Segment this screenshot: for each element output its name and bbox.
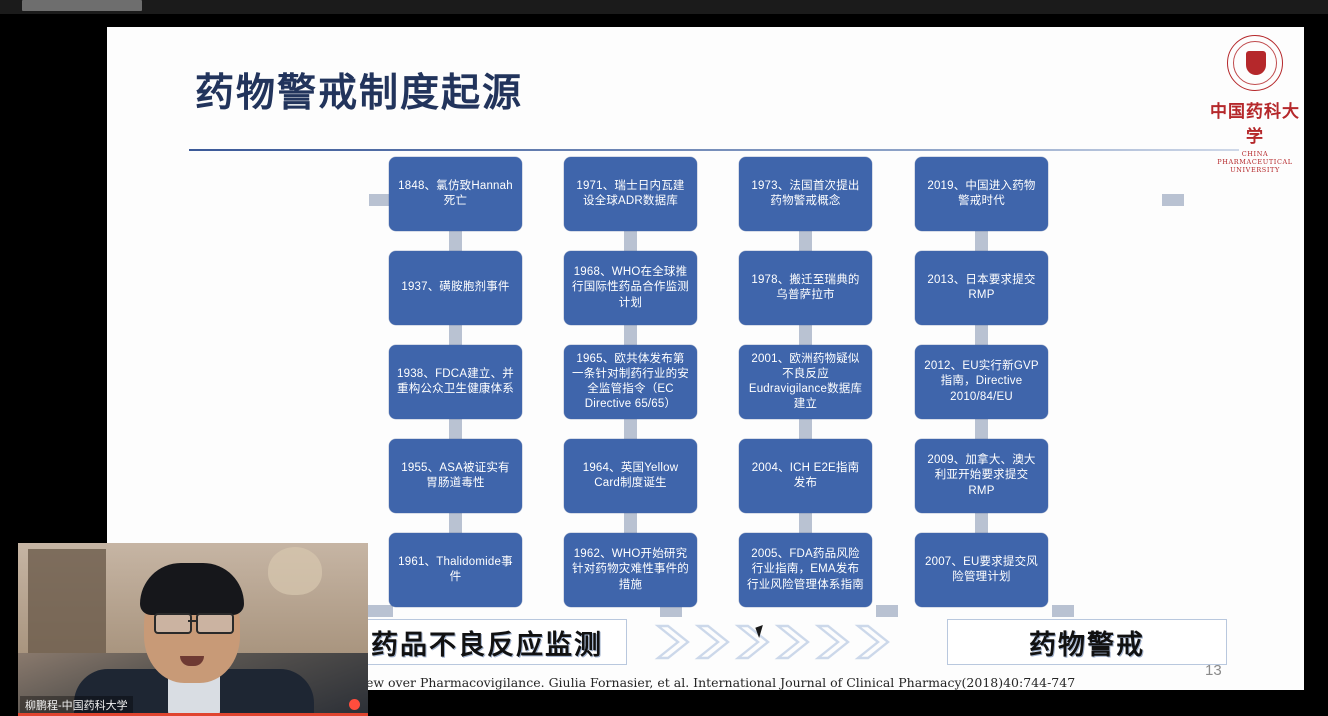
- video-person-hair: [140, 563, 244, 615]
- timeline-node[interactable]: 1973、法国首次提出药物警戒概念: [739, 157, 872, 231]
- timeline-column-1: 1848、氯仿致Hannah死亡 1937、磺胺胞剂事件 1938、FDCA建立…: [389, 157, 522, 607]
- label-box-adr-monitoring: 药品不良反应监测: [347, 619, 627, 665]
- video-background-lamp: [268, 547, 322, 595]
- connector-vertical: [624, 231, 637, 251]
- timeline-node[interactable]: 1938、FDCA建立、并重构公众卫生健康体系: [389, 345, 522, 419]
- chevron-right-icon: [772, 622, 812, 662]
- label-text: 药品不良反应监测: [371, 623, 603, 662]
- label-text: 药物警戒: [1029, 623, 1145, 662]
- connector-vertical: [449, 513, 462, 533]
- page-number: 13: [1205, 662, 1222, 679]
- timeline-node[interactable]: 1937、磺胺胞剂事件: [389, 251, 522, 325]
- connector-stub: [369, 194, 391, 206]
- chevron-right-icon: [732, 622, 772, 662]
- video-background-door: [28, 549, 106, 653]
- timeline-node[interactable]: 1848、氯仿致Hannah死亡: [389, 157, 522, 231]
- timeline-node[interactable]: 1964、英国Yellow Card制度诞生: [564, 439, 697, 513]
- connector-vertical: [975, 513, 988, 533]
- timeline-column-2: 1971、瑞士日内瓦建设全球ADR数据库 1968、WHO在全球推行国际性药品合…: [564, 157, 697, 607]
- timeline-node[interactable]: 1971、瑞士日内瓦建设全球ADR数据库: [564, 157, 697, 231]
- timeline-column-4: 2019、中国进入药物警戒时代 2013、日本要求提交RMP 2012、EU实行…: [915, 157, 1048, 607]
- citation-text: orical overview over Pharmacovigilance. …: [287, 675, 1287, 690]
- recording-dot-icon: [349, 699, 360, 710]
- participant-video-tile[interactable]: 柳鹏程-中国药科大学: [18, 543, 368, 716]
- timeline-node[interactable]: 2019、中国进入药物警戒时代: [915, 157, 1048, 231]
- connector-vertical: [624, 325, 637, 345]
- connector-stub: [1052, 605, 1074, 617]
- chevron-arrow-group: [652, 622, 932, 662]
- chevron-right-icon: [812, 622, 852, 662]
- timeline-node[interactable]: 1968、WHO在全球推行国际性药品合作监测计划: [564, 251, 697, 325]
- video-person-glasses: [154, 613, 192, 634]
- label-box-pharmacovigilance: 药物警戒: [947, 619, 1227, 665]
- bottom-summary-band: 药品不良反应监测 药物警戒: [267, 619, 1277, 665]
- connector-vertical: [449, 231, 462, 251]
- connector-stub: [1162, 194, 1184, 206]
- top-bar: [0, 0, 1328, 14]
- video-person-glasses-bridge: [188, 620, 198, 622]
- screen-share-window: 药物警戒制度起源 中国药科大学 CHINA PHARMACEUTICAL UNI…: [0, 0, 1328, 716]
- timeline-node[interactable]: 1978、搬迁至瑞典的乌普萨拉市: [739, 251, 872, 325]
- timeline-node[interactable]: 2013、日本要求提交RMP: [915, 251, 1048, 325]
- connector-vertical: [975, 419, 988, 439]
- chevron-right-icon: [692, 622, 732, 662]
- connector-vertical: [624, 513, 637, 533]
- timeline-node[interactable]: 2001、欧洲药物疑似不良反应Eudravigilance数据库建立: [739, 345, 872, 419]
- timeline-node[interactable]: 2005、FDA药品风险行业指南，EMA发布行业风险管理体系指南: [739, 533, 872, 607]
- timeline-node[interactable]: 1955、ASA被证实有胃肠道毒性: [389, 439, 522, 513]
- connector-vertical: [975, 325, 988, 345]
- timeline-node[interactable]: 2004、ICH E2E指南发布: [739, 439, 872, 513]
- timeline-node[interactable]: 1962、WHO开始研究针对药物灾难性事件的措施: [564, 533, 697, 607]
- timeline-node[interactable]: 2007、EU要求提交风险管理计划: [915, 533, 1048, 607]
- connector-vertical: [799, 231, 812, 251]
- connector-vertical: [449, 419, 462, 439]
- timeline-node[interactable]: 1965、欧共体发布第一条针对制药行业的安全监管指令（EC Directive …: [564, 345, 697, 419]
- connector-vertical: [624, 419, 637, 439]
- chevron-right-icon: [652, 622, 692, 662]
- participant-name-label: 柳鹏程-中国药科大学: [20, 696, 133, 714]
- chevron-right-icon: [852, 622, 892, 662]
- video-person-glasses: [196, 613, 234, 634]
- timeline-node[interactable]: 1961、Thalidomide事件: [389, 533, 522, 607]
- timeline-node[interactable]: 2012、EU实行新GVP指南，Directive 2010/84/EU: [915, 345, 1048, 419]
- connector-vertical: [799, 325, 812, 345]
- connector-vertical: [975, 231, 988, 251]
- connector-vertical: [799, 419, 812, 439]
- connector-vertical: [799, 513, 812, 533]
- timeline-column-3: 1973、法国首次提出药物警戒概念 1978、搬迁至瑞典的乌普萨拉市 2001、…: [739, 157, 872, 607]
- timeline-node[interactable]: 2009、加拿大、澳大利亚开始要求提交RMP: [915, 439, 1048, 513]
- connector-stub: [876, 605, 898, 617]
- connector-vertical: [449, 325, 462, 345]
- top-bar-chip: [22, 0, 142, 11]
